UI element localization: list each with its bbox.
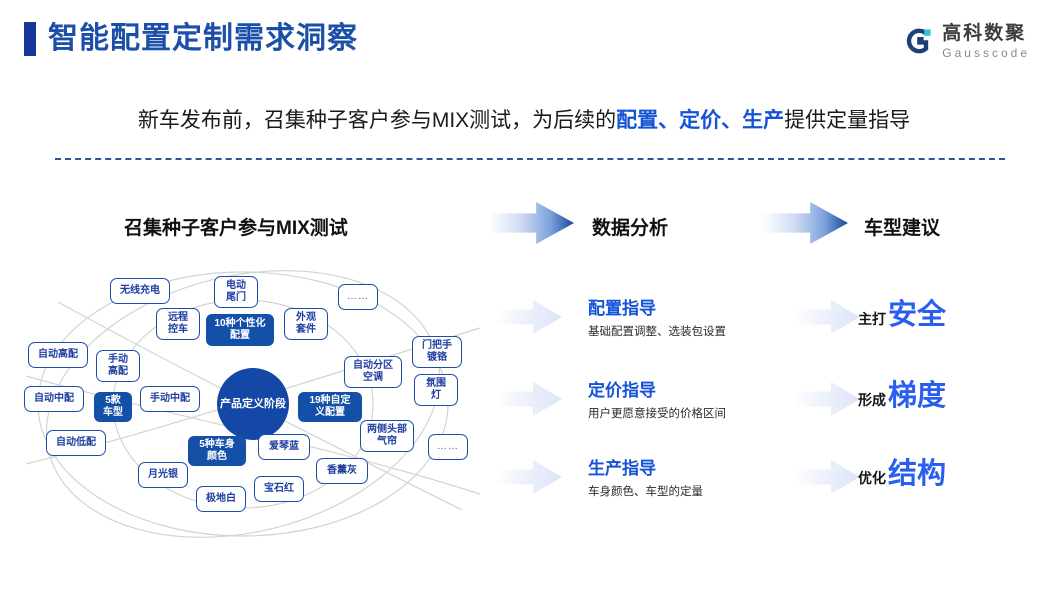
network-node-ellipsis-top: …… [338,284,378,310]
recommendation-row-safety: 主打 安全 [858,300,946,330]
network-node-label-line: 尾门 [226,292,246,304]
subtitle-post: 提供定量指导 [784,109,910,132]
logo-name-cn: 高科数聚 [942,24,1030,43]
column-header-right: 车型建议 [864,213,940,240]
recommendation-prefix: 主打 [858,309,886,329]
network-node-label-line: 义配置 [315,407,345,419]
row-arrow-left-1-icon [496,300,562,334]
hub-label-line: 产品 [220,397,242,412]
network-node-label-line: 电动 [226,280,246,292]
subtitle-pre: 新车发布前，召集种子客户参与MIX测试，为后续的 [138,109,616,132]
hub-node-product-definition: 产品定义阶段 [217,368,289,440]
network-node-label-line: 控车 [168,324,188,336]
network-node-badge-5-models: 5款车型 [94,392,132,422]
network-node-label-line: 自动分区 [353,360,393,372]
network-node-remote-control: 远程控车 [156,308,200,340]
network-node-label-line: 手动 [108,354,128,366]
page-title: 智能配置定制需求洞察 [48,19,358,59]
slide-header: 智能配置定制需求洞察 高科数聚 Gausscode [0,0,1048,78]
network-node-label-line: 套件 [296,324,316,336]
recommendation-keyword: 结构 [888,459,946,489]
network-node-label-line: 远程 [168,312,188,324]
row-arrow-left-2-icon [496,382,562,416]
network-node-label-line: 氛围 [426,378,446,390]
recommendation-keyword: 梯度 [888,381,946,411]
network-node-wireless-charging: 无线充电 [110,278,170,304]
column-header-left: 召集种子客户参与MIX测试 [124,213,348,240]
title-accent-bar [24,22,36,56]
recommendation-prefix: 优化 [858,468,886,488]
slide-root: 智能配置定制需求洞察 高科数聚 Gausscode 新车发布前，召集种子客户参与… [0,0,1048,589]
network-node-label-line: 5款 [105,395,121,407]
recommendation-keyword: 安全 [888,300,946,330]
column-header-middle: 数据分析 [592,213,668,240]
network-node-label-line: 镀铬 [427,352,447,364]
analysis-desc: 基础配置调整、选装包设置 [588,323,838,341]
hub-label-line: 定义阶段 [242,397,286,412]
network-node-exterior-kit: 外观套件 [284,308,328,340]
network-node-manual-mid-trim: 手动中配 [140,386,200,412]
recommendation-row-structure: 优化 结构 [858,459,946,489]
network-node-badge-10-personalized: 10种个性化配置 [206,314,274,346]
network-node-lavender-grey: 香薰灰 [316,458,368,484]
network-node-label-line: 颜色 [207,451,227,463]
analysis-desc: 车身颜色、车型的定量 [588,483,838,501]
flow-arrow-2-icon [762,202,848,244]
network-node-auto-high-trim: 自动高配 [28,342,88,368]
network-node-label-line: 5种车身 [199,439,235,451]
network-node-label-line: 19种自定 [309,395,350,407]
product-definition-network: 产品定义阶段 无线充电电动尾门……远程控车10种个性化配置外观套件门把手镀铬自动… [18,258,488,544]
network-node-label-line: 高配 [108,366,128,378]
network-node-polar-white: 极地白 [196,486,246,512]
network-node-manual-high-trim: 手动高配 [96,350,140,382]
recommendation-row-tiering: 形成 梯度 [858,381,946,411]
network-node-label-line: 两侧头部 [367,424,407,436]
network-node-ellipsis-right: …… [428,434,468,460]
recommendation-prefix: 形成 [858,390,886,410]
subtitle-highlight: 配置、定价、生产 [616,109,784,132]
network-node-label-line: 气帘 [377,436,397,448]
network-node-label-line: 外观 [296,312,316,324]
section-divider [55,158,1005,160]
network-node-label-line: 空调 [363,372,383,384]
network-node-ambient-light: 氛围灯 [414,374,458,406]
network-node-side-head-airbag: 两侧头部气帘 [360,420,414,452]
analysis-desc: 用户更愿意接受的价格区间 [588,405,838,423]
network-node-aegean-blue: 爱琴蓝 [258,434,310,460]
subtitle-line: 新车发布前，召集种子客户参与MIX测试，为后续的配置、定价、生产提供定量指导 [0,104,1048,138]
network-node-auto-low-trim: 自动低配 [46,430,106,456]
row-arrow-left-3-icon [496,460,562,494]
brand-logo: 高科数聚 Gausscode [904,18,1030,64]
network-node-label-line: 配置 [230,330,250,342]
gausscode-logo-icon [904,26,934,56]
logo-wordmark: 高科数聚 Gausscode [942,24,1030,59]
network-node-label-line: 车型 [103,407,123,419]
flow-arrow-1-icon [488,202,574,244]
network-node-power-tailgate: 电动尾门 [214,276,258,308]
network-node-badge-5-colors: 5种车身颜色 [188,436,246,466]
network-node-moonlight-silver: 月光银 [138,462,188,488]
network-node-label-line: 10种个性化 [214,318,265,330]
logo-name-en: Gausscode [942,47,1030,59]
network-node-label-line: 灯 [431,390,441,402]
network-node-label-line: 门把手 [422,340,452,352]
network-node-badge-19-custom: 19种自定义配置 [298,392,362,422]
network-node-auto-mid-trim: 自动中配 [24,386,84,412]
network-node-ruby-red: 宝石红 [254,476,304,502]
network-node-door-handle-chrome: 门把手镀铬 [412,336,462,368]
network-node-auto-zone-ac: 自动分区空调 [344,356,402,388]
